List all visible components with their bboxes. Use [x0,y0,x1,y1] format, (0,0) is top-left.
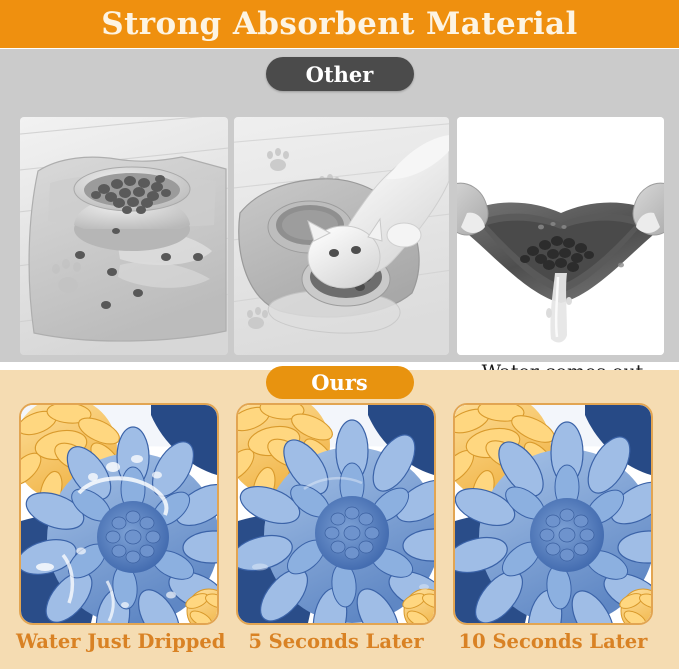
other-photo-row [0,49,679,362]
caption-5-seconds-later: 5 Seconds Later [233,632,439,652]
other-section: Wet foot prints everywhere Water comes o… [0,49,679,362]
panel-mat-10-seconds-later [453,403,653,625]
floral-mat-dry-illustration [455,405,651,623]
cat-eating-illustration [234,117,449,355]
caption-10-seconds-later: 10 Seconds Later [450,632,656,652]
photo-cat-eating-spilled-water [234,117,449,355]
title-banner: Strong Absorbent Material [0,0,679,48]
label-ours-pill: Ours [266,366,414,399]
page-title: Strong Absorbent Material [101,9,577,40]
ours-section: Water Just Dripped 5 Seconds Later 10 Se… [0,370,679,669]
label-other-pill: Other [266,57,414,91]
caption-water-just-dripped: Water Just Dripped [16,632,222,652]
label-other-text: Other [306,64,374,85]
panel-mat-5-seconds-later [236,403,436,625]
photo-mat-lifted-water-pouring-out [457,117,664,355]
floral-mat-wet-illustration [21,405,217,623]
product-comparison-infographic: Strong Absorbent Material [0,0,679,669]
panel-mat-water-just-dripped [19,403,219,625]
mat-pouring-illustration [457,117,664,355]
photo-bowl-on-mat-with-spills [20,117,228,355]
bowl-on-mat-illustration [20,117,228,355]
floral-mat-damp-illustration [238,405,434,623]
label-ours-text: Ours [311,372,367,393]
